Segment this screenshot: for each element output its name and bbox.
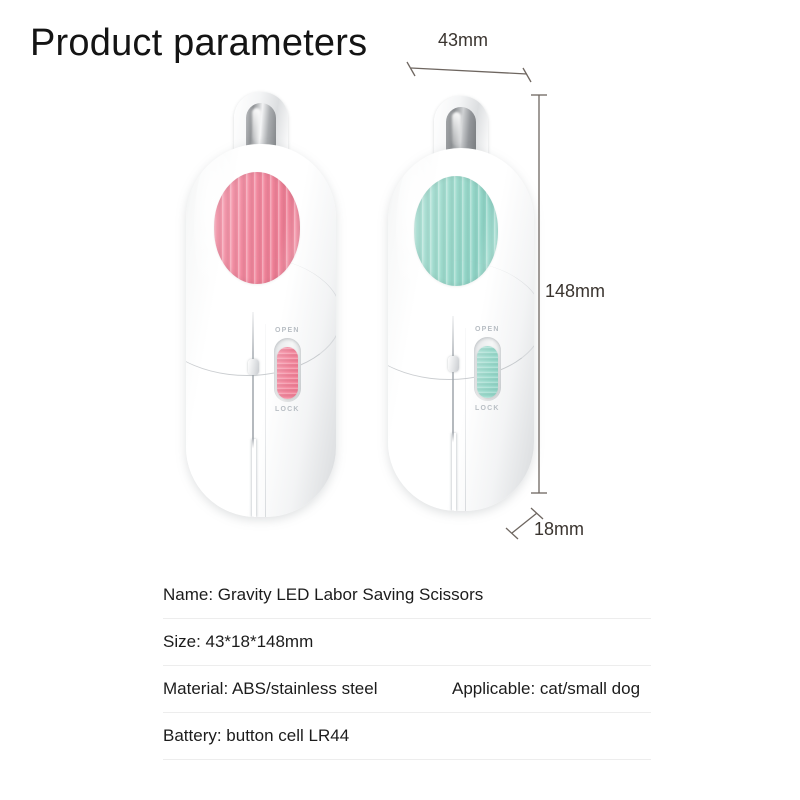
slider-lock-label: LOCK — [475, 405, 500, 412]
spec-applicable-value: Applicable: cat/small dog — [452, 679, 640, 699]
slider-knob[interactable] — [277, 347, 298, 399]
slider-lock-label: LOCK — [275, 406, 300, 413]
scissor-jaw-gap — [452, 433, 456, 511]
spec-size-value: Size: 43*18*148mm — [163, 632, 313, 652]
height-dimension-label: 148mm — [545, 281, 605, 302]
lock-slider-pink[interactable]: OPEN LOCK — [270, 327, 312, 413]
spec-row-battery: Battery: button cell LR44 — [163, 713, 651, 760]
spec-table: Name: Gravity LED Labor Saving Scissors … — [163, 572, 651, 760]
body-seam-line-secondary — [265, 324, 266, 517]
slider-knob[interactable] — [477, 346, 498, 398]
product-body-green: OPEN LOCK — [388, 148, 534, 511]
spec-row-name: Name: Gravity LED Labor Saving Scissors — [163, 572, 651, 619]
slider-open-label: OPEN — [475, 326, 500, 333]
slider-open-label: OPEN — [275, 327, 300, 334]
width-dimension-line — [407, 62, 531, 82]
spec-name-value: Name: Gravity LED Labor Saving Scissors — [163, 585, 483, 605]
hinge-detail — [448, 356, 459, 372]
shoulder-seam — [388, 260, 534, 380]
depth-dimension-label: 18mm — [534, 519, 584, 540]
scissor-jaw-gap — [252, 439, 256, 517]
product-image-pink: OPEN LOCK — [186, 92, 336, 517]
shoulder-seam — [186, 256, 336, 376]
body-seam-line-secondary — [465, 328, 466, 511]
spec-row-size: Size: 43*18*148mm — [163, 619, 651, 666]
slider-track[interactable] — [474, 337, 501, 401]
product-parameters-page: Product parameters 43mm 148mm 18mm — [0, 0, 800, 800]
spec-row-material: Material: ABS/stainless steel Applicable… — [163, 666, 651, 713]
spec-battery-value: Battery: button cell LR44 — [163, 726, 349, 746]
width-dimension-label: 43mm — [438, 30, 488, 51]
product-body-pink: OPEN LOCK — [186, 144, 336, 517]
product-image-green: OPEN LOCK — [388, 96, 534, 511]
slider-track[interactable] — [274, 338, 301, 402]
lock-slider-green[interactable]: OPEN LOCK — [470, 326, 512, 412]
spec-material-value: Material: ABS/stainless steel — [163, 679, 377, 699]
hinge-detail — [248, 359, 259, 375]
page-title: Product parameters — [30, 22, 367, 65]
